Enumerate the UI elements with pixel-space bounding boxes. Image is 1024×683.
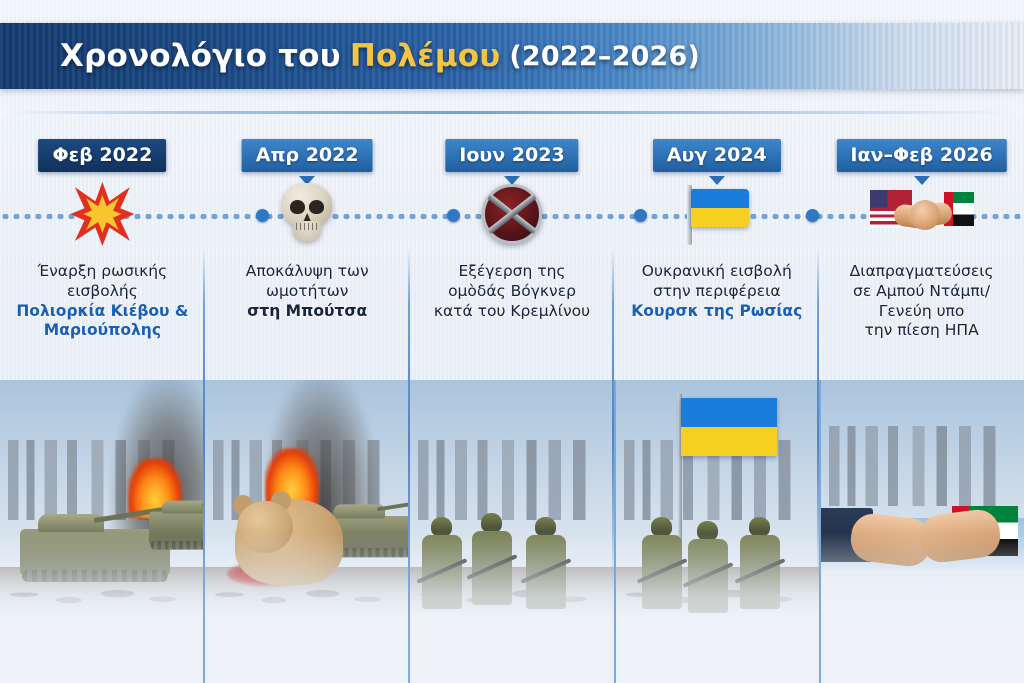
photo-bottom-fade — [410, 533, 613, 683]
skull-teeth — [296, 223, 318, 230]
caption-line: Έναρξη ρωσικής — [6, 262, 199, 282]
milestone-caption-3: Εξέγερση της ομὸδάς Βόγκνερ κατά του Κρε… — [416, 262, 609, 321]
date-badge-3[interactable]: Ιουν 2023 — [445, 139, 578, 172]
photo-bottom-fade — [205, 533, 408, 683]
skull-eye-socket — [290, 200, 305, 214]
date-badge-1[interactable]: Φεβ 2022 — [38, 139, 166, 172]
caption-line-bold: στη Μπούτσα — [211, 302, 404, 322]
caption-line-highlight: Μαριούπολης — [6, 321, 199, 341]
explosion-icon — [56, 178, 148, 250]
caption-line: Διαπραγματεύσεις — [825, 262, 1018, 282]
date-badge-5[interactable]: Ιαν–Φεβ 2026 — [836, 139, 1006, 172]
skull-icon — [261, 178, 353, 250]
infographic-page: Χρονολόγιο του Πολέμου (2022–2026) — [0, 0, 1024, 683]
caption-line: Γενεύη υπο — [825, 302, 1018, 322]
caption-line: Ουκρανική εισβολή — [620, 262, 813, 282]
caption-line: ομὸδάς Βόγκνερ — [416, 282, 609, 302]
milestone-caption-4: Ουκρανική εισβολή στην περιφέρεια Κουρσκ… — [620, 262, 813, 321]
explosion-burst — [69, 181, 135, 247]
photo-bottom-fade — [821, 533, 1024, 683]
page-title: Χρονολόγιο του Πολέμου (2022–2026) — [60, 23, 700, 89]
milestone-caption-5: Διαπραγματεύσεις σε Αμπού Ντάμπι/ Γενεύη… — [825, 262, 1018, 341]
milestone-caption-2: Αποκάλυψη των ωμοτήτων στη Μπούτσα — [211, 262, 404, 321]
caption-line: εισβολής — [6, 282, 199, 302]
milestone-caption-1: Έναρξη ρωσικής εισβολής Πολιορκία Κιέβου… — [6, 262, 199, 341]
title-years: (2022–2026) — [509, 41, 700, 72]
explosion-inner-star — [83, 195, 121, 233]
wagner-emblem — [482, 184, 542, 244]
flag-cloth — [691, 189, 749, 227]
photo-bottom-fade — [616, 533, 819, 683]
caption-line-highlight: Πολιορκία Κιέβου & — [6, 302, 199, 322]
date-badge-4[interactable]: Αυγ 2024 — [653, 139, 781, 172]
date-badge-2[interactable]: Απρ 2022 — [242, 139, 373, 172]
title-part1: Χρονολόγιο του — [60, 38, 341, 74]
handshake-icon — [867, 178, 977, 250]
caption-line: Αποκάλυψη των — [211, 262, 404, 282]
caption-line: ωμοτήτων — [211, 282, 404, 302]
handshake-graphic — [870, 184, 974, 244]
ukraine-flag-graphic — [681, 183, 753, 245]
caption-line: κατά του Κρεμλίνου — [416, 302, 609, 322]
caption-line: σε Αμπού Ντάμπι/ — [825, 282, 1018, 302]
ukraine-flag-icon — [671, 178, 763, 250]
title-highlight: Πολέμου — [350, 38, 501, 74]
caption-line: στην περιφέρεια — [620, 282, 813, 302]
photo-bottom-fade — [0, 533, 203, 683]
caption-line-highlight: Κουρσκ της Ρωσίας — [620, 302, 813, 322]
caption-line: την πίεση ΗΠΑ — [825, 321, 1018, 341]
caption-line: Εξέγερση της — [416, 262, 609, 282]
crossed-rifles-icon — [466, 178, 558, 250]
skull-eye-socket — [309, 200, 324, 214]
handshake-grip — [910, 200, 940, 230]
skull-graphic — [282, 183, 332, 245]
